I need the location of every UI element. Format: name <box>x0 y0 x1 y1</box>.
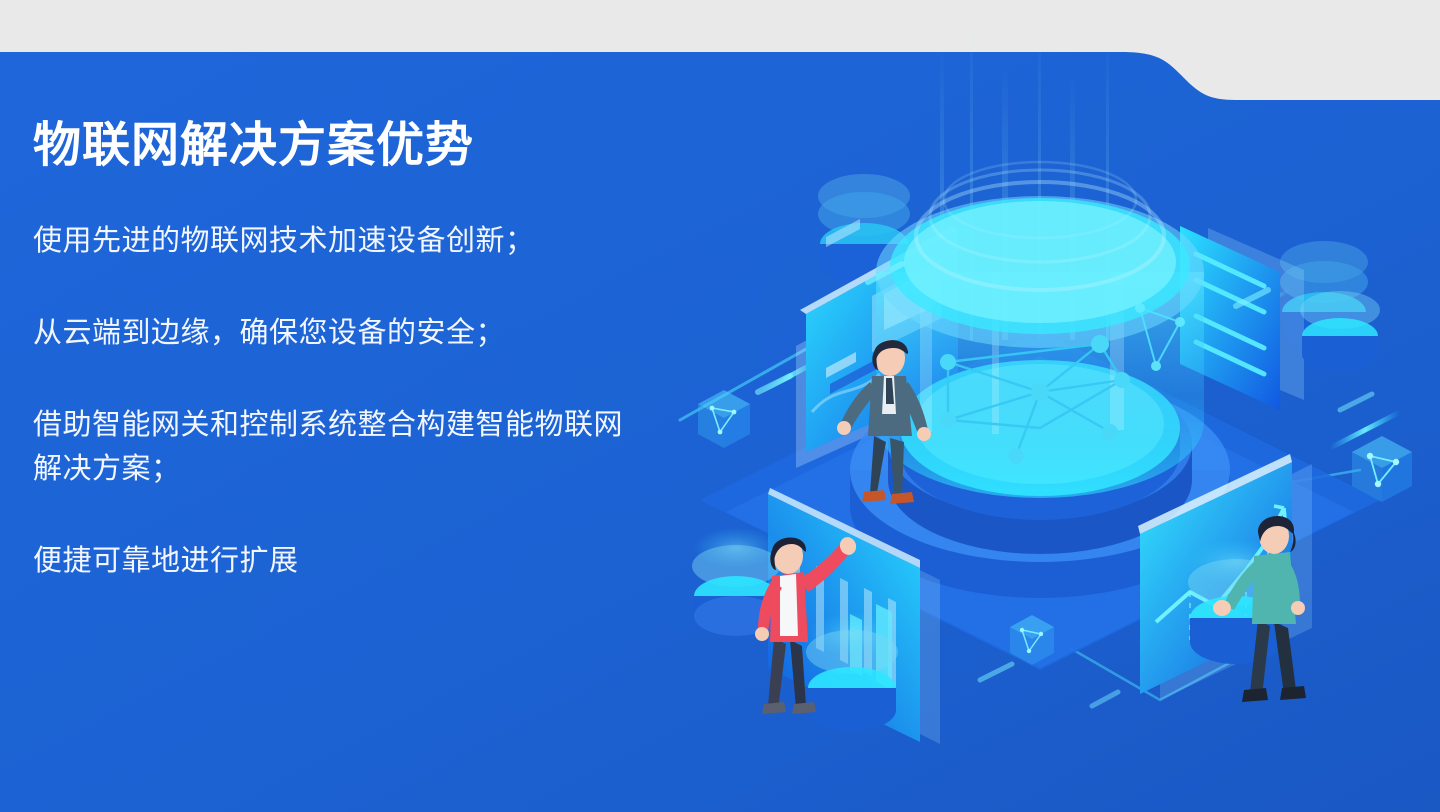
screenshot-stage: 物联网解决方案优势 使用先进的物联网技术加速设备创新； 从云端到边缘，确保您设备… <box>0 0 1440 812</box>
benefit-item-4: 便捷可靠地进行扩展 <box>33 539 673 583</box>
text-content-block: 物联网解决方案优势 使用先进的物联网技术加速设备创新； 从云端到边缘，确保您设备… <box>33 120 673 583</box>
benefit-item-3: 借助智能网关和控制系统整合构建智能物联网解决方案； <box>33 403 633 491</box>
benefits-list: 使用先进的物联网技术加速设备创新； 从云端到边缘，确保您设备的安全； 借助智能网… <box>33 219 673 583</box>
cube-node-left <box>698 390 750 448</box>
isometric-iot-illustration <box>640 0 1440 812</box>
benefit-item-2: 从云端到边缘，确保您设备的安全； <box>33 311 673 355</box>
benefit-item-1: 使用先进的物联网技术加速设备创新； <box>33 219 673 263</box>
page-title: 物联网解决方案优势 <box>33 120 673 173</box>
